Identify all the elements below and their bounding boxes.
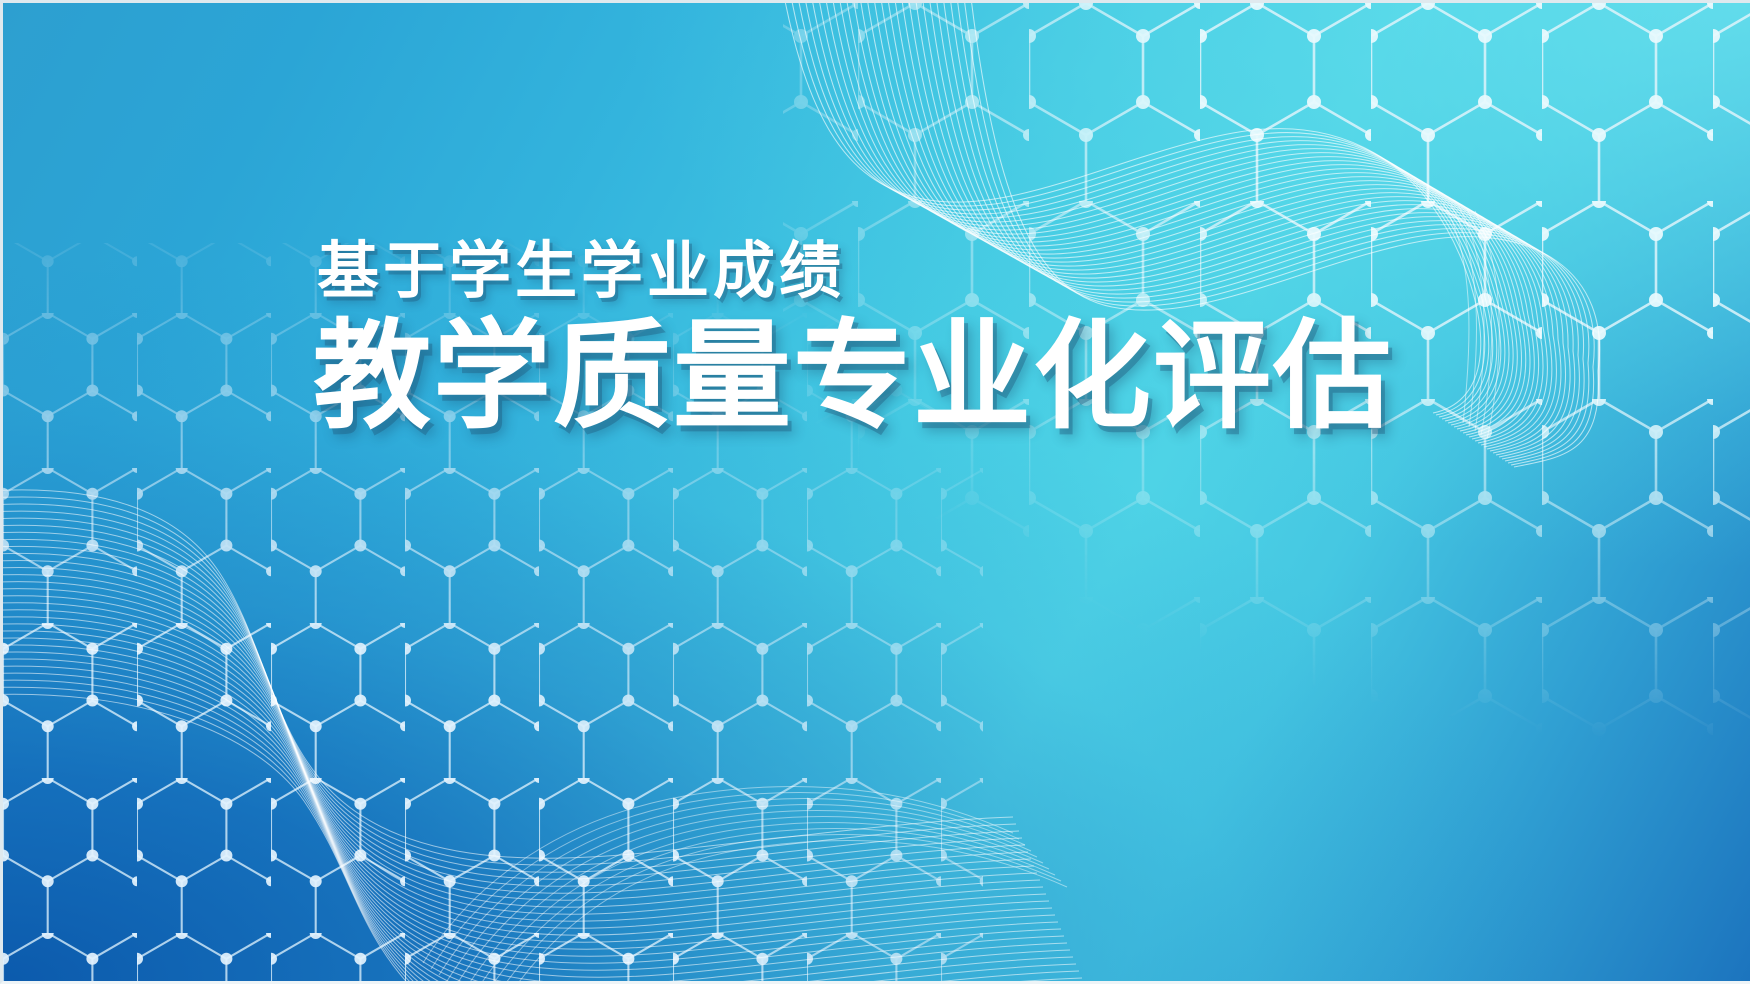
title-slide: 基于学生学业成绩 教学质量专业化评估 bbox=[0, 0, 1750, 984]
title-text-block: 基于学生学业成绩 教学质量专业化评估 bbox=[313, 239, 1393, 439]
background-top-right-glow bbox=[3, 3, 1750, 981]
slide-title: 教学质量专业化评估 bbox=[313, 316, 1393, 439]
slide-subtitle: 基于学生学业成绩 bbox=[317, 239, 1393, 304]
